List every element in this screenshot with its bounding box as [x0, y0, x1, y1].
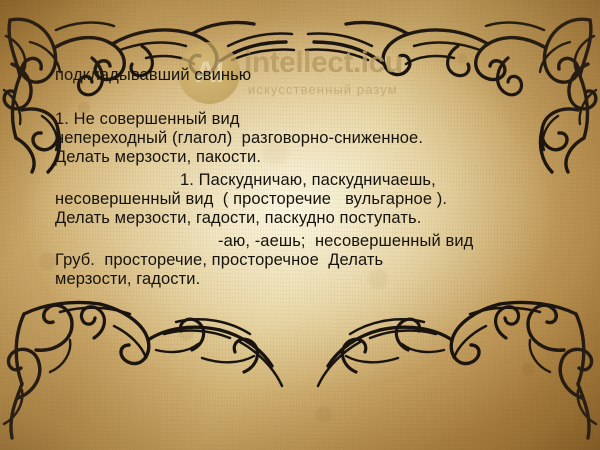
dictionary-entry-text: подкладывавший свинью1. Не совершенный в…: [0, 0, 600, 450]
entry-line: Груб. просторечие, просторечное Делать: [55, 251, 383, 270]
entry-line: несовершенный вид ( просторечие вульгарн…: [55, 190, 447, 209]
entry-line: подкладывавший свинью: [55, 66, 251, 85]
entry-line: Делать мерзости, гадости, паскудно посту…: [55, 209, 421, 228]
entry-line: непереходный (глагол) разговорно-сниженн…: [55, 129, 423, 148]
entry-line: 1. Паскудничаю, паскудничаешь,: [180, 171, 436, 190]
entry-line: мерзости, гадости.: [55, 270, 200, 289]
entry-line: Делать мерзости, пакости.: [55, 148, 261, 167]
entry-line: 1. Не совершенный вид: [55, 110, 240, 129]
parchment-slide: AI intellect.icu искусственный разум под…: [0, 0, 600, 450]
entry-line: -аю, -аешь; несовершенный вид: [218, 232, 473, 251]
